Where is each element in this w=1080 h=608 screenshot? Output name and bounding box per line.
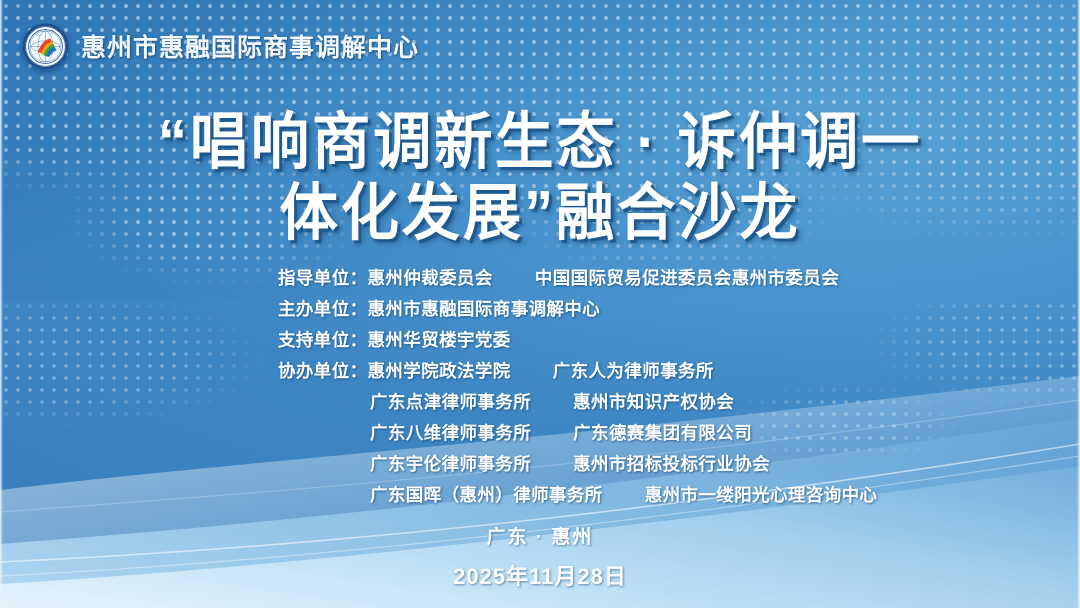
organization-row: 广东点津律师事务所惠州市知识产权协会 xyxy=(0,386,1080,417)
left-edge-highlight xyxy=(0,0,3,608)
organization-row: 广东国晖（惠州）律师事务所惠州市一缕阳光心理咨询中心 xyxy=(0,479,1080,510)
organization-name: 中国国际贸易促进委员会惠州市委员会 xyxy=(535,265,839,290)
header-title: 惠州市惠融国际商事调解中心 xyxy=(81,28,419,64)
organization-list: 指导单位：惠州仲裁委员会中国国际贸易促进委员会惠州市委员会主办单位：惠州市惠融国… xyxy=(0,262,1080,510)
organization-name: 惠州市惠融国际商事调解中心 xyxy=(368,296,601,321)
poster-footer: 广东 · 惠州 2025年11月28日 xyxy=(0,522,1080,591)
emblem-svg xyxy=(22,23,69,70)
poster-header: 惠州市惠融国际商事调解中心 xyxy=(0,0,1080,92)
organization-name: 广东人为律师事务所 xyxy=(553,358,714,383)
organization-logo-icon xyxy=(22,23,69,70)
main-title: “唱响商调新生态 · 诉仲调一 体化发展”融合沙龙 xyxy=(0,108,1080,249)
organization-row: 协办单位：惠州学院政法学院广东人为律师事务所 xyxy=(0,355,1080,386)
main-title-line-1: “唱响商调新生态 · 诉仲调一 xyxy=(32,108,1047,179)
organization-name: 惠州市一缕阳光心理咨询中心 xyxy=(645,482,878,507)
organization-name: 惠州学院政法学院 xyxy=(368,358,511,383)
organization-name: 广东德赛集团有限公司 xyxy=(573,420,752,445)
event-location: 广东 · 惠州 xyxy=(0,522,1080,549)
organization-name: 惠州华贸楼宇党委 xyxy=(368,327,511,352)
organization-name: 惠州市知识产权协会 xyxy=(573,389,734,414)
organization-name: 惠州市招标投标行业协会 xyxy=(573,451,770,476)
organization-label: 指导单位： xyxy=(278,265,368,290)
organization-name: 广东八维律师事务所 xyxy=(370,420,531,445)
organization-name: 广东点津律师事务所 xyxy=(370,389,531,414)
main-title-line-2: 体化发展”融合沙龙 xyxy=(32,179,1047,250)
organization-row: 指导单位：惠州仲裁委员会中国国际贸易促进委员会惠州市委员会 xyxy=(0,262,1080,293)
organization-label: 协办单位： xyxy=(278,358,368,383)
event-date: 2025年11月28日 xyxy=(0,559,1080,591)
organization-row: 广东八维律师事务所广东德赛集团有限公司 xyxy=(0,417,1080,448)
organization-row: 主办单位：惠州市惠融国际商事调解中心 xyxy=(0,293,1080,324)
organization-row: 支持单位：惠州华贸楼宇党委 xyxy=(0,324,1080,355)
organization-name: 广东宇伦律师事务所 xyxy=(370,451,531,476)
event-poster: 惠州市惠融国际商事调解中心 “唱响商调新生态 · 诉仲调一 体化发展”融合沙龙 … xyxy=(0,0,1080,608)
organization-row: 广东宇伦律师事务所惠州市招标投标行业协会 xyxy=(0,448,1080,479)
organization-name: 广东国晖（惠州）律师事务所 xyxy=(370,482,603,507)
organization-label: 主办单位： xyxy=(278,296,368,321)
organization-name: 惠州仲裁委员会 xyxy=(368,265,493,290)
organization-label: 支持单位： xyxy=(278,327,368,352)
